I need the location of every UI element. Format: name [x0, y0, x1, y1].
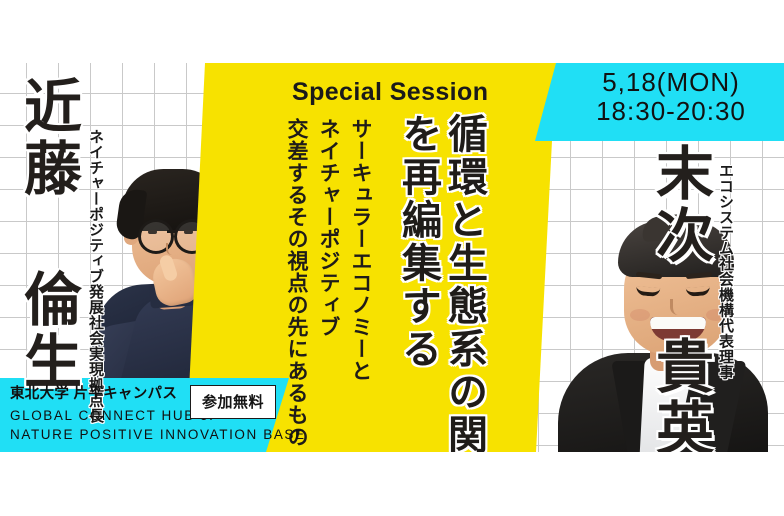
event-time: 18:30-20:30 — [576, 97, 766, 126]
speaker-title-suetsugu: エコシステム社会機構代表理事 — [718, 163, 733, 380]
speaker-title-kondo: ネイチャーポジティブ発展社会実現拠点長 — [88, 129, 103, 424]
special-session-label: Special Session — [292, 78, 488, 107]
subheading-2: ネイチャーポジティブ — [318, 118, 339, 338]
subheading-1: サーキュラーエコノミーと — [350, 118, 371, 382]
event-date: 5,18(MON) — [576, 68, 766, 97]
free-admission-badge: 参加無料 — [190, 385, 276, 419]
headline-line-2: を再編集する — [398, 113, 438, 371]
headline-line-1: 循環と生態系の関係 — [444, 113, 484, 452]
schedule-block: 5,18(MON) 18:30-20:30 — [576, 68, 766, 126]
speaker-name-kondo: 近藤 倫生 — [18, 76, 76, 393]
event-poster: ネイチャーポジティブ発展社会実現拠点長 近藤 倫生 エコシステム社会機構代表理事… — [0, 63, 784, 452]
speaker-name-suetsugu: 末次 貴英 — [650, 143, 708, 452]
venue-line-en-2: NATURE POSITIVE INNOVATION BASE — [10, 425, 306, 445]
